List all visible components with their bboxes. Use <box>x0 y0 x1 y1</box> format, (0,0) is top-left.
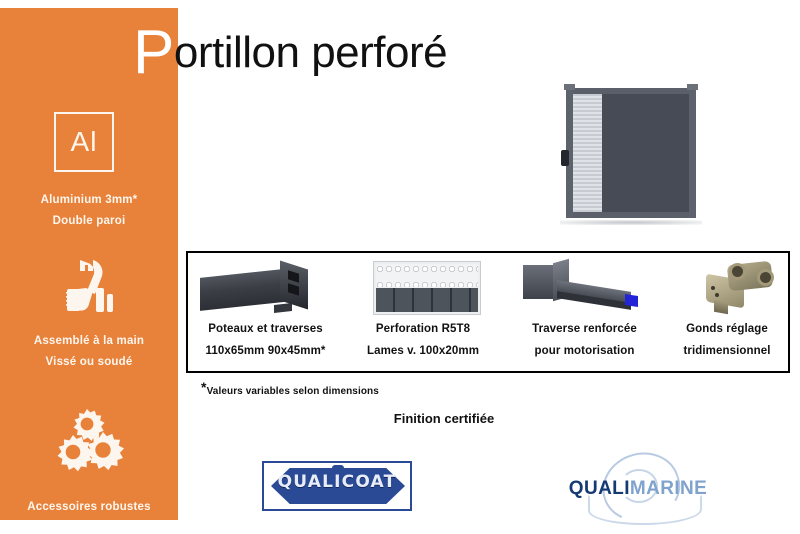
gate-handle <box>561 150 569 166</box>
feature-cell-gonds: Gonds réglage tridimensionnel <box>666 253 788 371</box>
gond-reglable-art <box>666 259 788 317</box>
feature-cell-motorisation: Traverse renforcée pour motorisation <box>503 253 666 371</box>
feature-cell-perforation-caption1: Perforation R5T8 <box>343 323 503 335</box>
footnote-text: Valeurs variables selon dimensions <box>207 386 379 397</box>
qualimarine-logo-text-part2: MARINE <box>630 478 707 499</box>
portillon-perfore-photo <box>566 88 696 218</box>
feature-cell-motorisation-caption2: pour motorisation <box>503 345 666 357</box>
finition-heading: Finition certifiée <box>0 411 800 426</box>
feature-cell-perforation: Perforation R5T8 Lames v. 100x20mm <box>343 253 503 371</box>
footnote: *Valeurs variables selon dimensions <box>201 379 379 397</box>
motorisation-traverse-art <box>503 259 666 317</box>
gate-post-cap-left <box>564 84 575 90</box>
qualicoat-logo: QUALICOAT <box>262 461 412 511</box>
feature-cell-gonds-caption2: tridimensionnel <box>666 345 788 357</box>
qualimarine-logo-text: QUALIMARINE <box>558 478 718 500</box>
gate-shadow <box>560 220 702 225</box>
qualimarine-logo: QUALIMARINE <box>558 465 718 511</box>
sidebar-feature-aluminium-line2: Double paroi <box>0 211 178 232</box>
qualicoat-logo-text: QUALICOAT <box>264 472 410 492</box>
sidebar-feature-aluminium: Aluminium 3mm* Double paroi <box>0 190 178 232</box>
sidebar-feature-aluminium-line1: Aluminium 3mm* <box>0 190 178 211</box>
qualimarine-logo-text-part1: QUALI <box>569 478 630 499</box>
feature-cell-poteaux: Poteaux et traverses 110x65mm 90x45mm* <box>188 253 343 371</box>
feature-cell-perforation-caption2: Lames v. 100x20mm <box>343 345 503 357</box>
sidebar-feature-accessoires: Accessoires robustes <box>0 497 178 518</box>
feature-cell-motorisation-caption1: Traverse renforcée <box>503 323 666 335</box>
feature-cell-poteaux-caption1: Poteaux et traverses <box>188 323 343 335</box>
page-title-rest: ortillon perforé <box>174 28 447 77</box>
gate-post-right <box>689 88 696 218</box>
sidebar-feature-assemblage-line2: Vissé ou soudé <box>0 352 178 373</box>
sidebar-feature-assemblage: Assemblé à la main Vissé ou soudé <box>0 331 178 373</box>
gate-perforated-strip <box>572 94 602 212</box>
poteau-profile-art <box>188 259 343 317</box>
feature-cell-gonds-caption1: Gonds réglage <box>666 323 788 335</box>
feature-cell-poteaux-caption2: 110x65mm 90x45mm* <box>188 345 343 357</box>
hand-wrench-icon <box>62 258 118 316</box>
aluminium-al-badge-text: Al <box>56 114 112 170</box>
gate-post-cap-right <box>687 84 698 90</box>
page-title: Portillon perforé <box>133 23 447 83</box>
qualicoat-crown-mark <box>332 465 344 472</box>
page-title-initial: P <box>133 18 174 87</box>
perforation-swatch-art <box>343 259 503 317</box>
sidebar-feature-assemblage-line1: Assemblé à la main <box>0 331 178 352</box>
aluminium-al-icon: Al <box>54 112 114 172</box>
features-box: Poteaux et traverses 110x65mm 90x45mm* P… <box>186 251 790 373</box>
finition-heading-text: Finition certifiée <box>394 411 494 426</box>
sidebar-feature-accessoires-line1: Accessoires robustes <box>0 497 178 518</box>
